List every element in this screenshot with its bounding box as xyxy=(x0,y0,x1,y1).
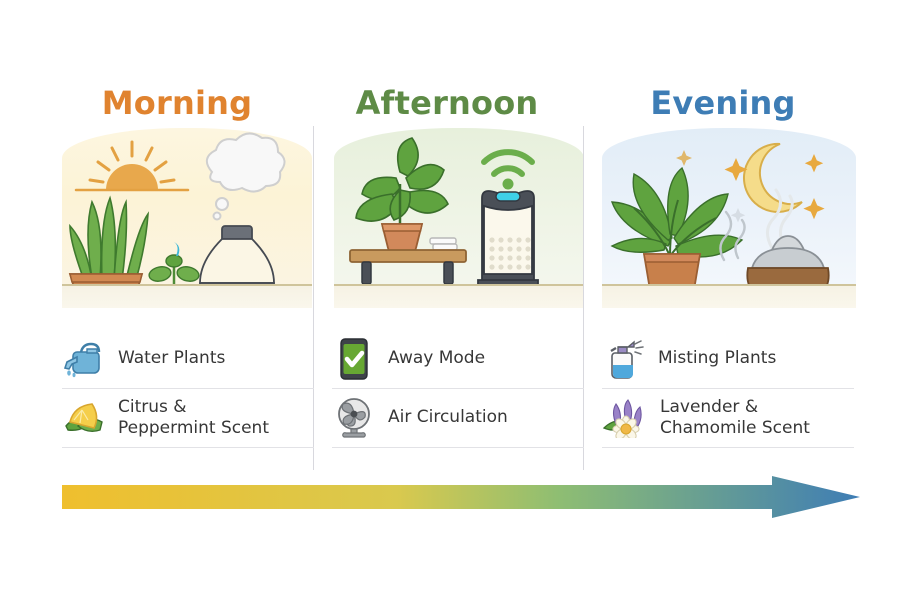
list-item[interactable]: Lavender & Chamomile Scent xyxy=(602,389,854,448)
books xyxy=(430,238,457,250)
label-line-1: Lavender & xyxy=(660,397,810,418)
morning-scene xyxy=(62,128,312,308)
spray-bottle-icon xyxy=(602,337,646,381)
infographic-canvas: Morning Afternoon Evening xyxy=(0,0,922,614)
list-item[interactable]: Air Circulation xyxy=(332,389,584,448)
wooden-shelf xyxy=(350,250,466,284)
evening-scene-art xyxy=(602,128,856,308)
label-line-1: Air Circulation xyxy=(388,407,508,428)
afternoon-scene-art xyxy=(334,128,584,308)
scene-band xyxy=(62,128,856,308)
label-list-afternoon: Away Mode Air Circ xyxy=(332,330,584,448)
morning-scene-art xyxy=(62,128,312,308)
label-list-morning: Water Plants Citrus & Peppermint Scent xyxy=(62,330,314,448)
sun-disc xyxy=(106,164,158,190)
star-icon-small xyxy=(676,150,692,166)
label-line-2: Peppermint Scent xyxy=(118,418,269,439)
list-item-label: Away Mode xyxy=(388,348,485,369)
column-heading-morning: Morning xyxy=(32,84,322,122)
label-line-1: Citrus & xyxy=(118,397,269,418)
purifier-indicator xyxy=(496,192,520,201)
list-item[interactable]: Water Plants xyxy=(62,330,314,389)
steam-cloud-icon xyxy=(207,133,285,219)
label-line-2: Chamomile Scent xyxy=(660,418,810,439)
list-item[interactable]: Away Mode xyxy=(332,330,584,389)
list-item-label: Citrus & Peppermint Scent xyxy=(118,397,269,440)
phone-check-icon xyxy=(332,337,376,381)
wifi-dot xyxy=(503,179,514,190)
column-heading-afternoon: Afternoon xyxy=(302,84,592,122)
label-line-1: Water Plants xyxy=(118,348,225,369)
label-line-1: Misting Plants xyxy=(658,348,776,369)
fern-plant xyxy=(612,168,742,257)
list-item[interactable]: Misting Plants xyxy=(602,330,854,389)
arrow-shape xyxy=(62,476,860,518)
fan-icon xyxy=(332,396,376,440)
evening-floor xyxy=(602,284,856,308)
label-line-1: Away Mode xyxy=(388,348,485,369)
wifi-icon xyxy=(484,152,532,174)
column-heading-evening: Evening xyxy=(578,84,868,122)
morning-floor xyxy=(62,284,312,308)
lavender-chamomile-icon xyxy=(602,396,648,440)
evening-scene xyxy=(602,128,856,308)
leafy-plant xyxy=(356,138,448,252)
afternoon-floor xyxy=(334,284,584,308)
list-item-label: Misting Plants xyxy=(658,348,776,369)
list-item[interactable]: Citrus & Peppermint Scent xyxy=(62,389,314,448)
lemon-leaf-icon xyxy=(62,396,106,440)
watering-can-icon xyxy=(62,337,106,381)
list-item-label: Lavender & Chamomile Scent xyxy=(660,397,810,440)
timeline-arrow xyxy=(62,476,860,518)
list-item-label: Air Circulation xyxy=(388,407,508,428)
afternoon-scene xyxy=(334,128,584,308)
seedling-steam xyxy=(174,242,179,256)
list-item-label: Water Plants xyxy=(118,348,225,369)
label-list-evening: Misting Plants xyxy=(602,330,854,448)
